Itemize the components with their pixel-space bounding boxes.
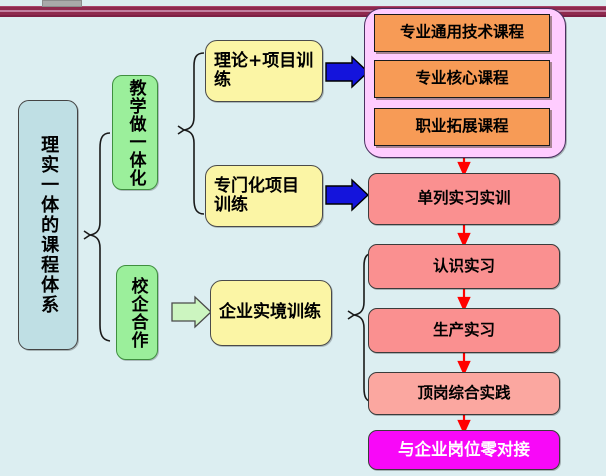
node-mode-specialized-project-training[interactable]: 专门化项目训练 bbox=[205, 165, 323, 227]
node-mode-enterprise-real-training-label: 企业实境训练 bbox=[219, 303, 323, 322]
node-approach-integrated-teaching-label: 教学做一体化 bbox=[125, 79, 144, 187]
node-course-career-expansion[interactable]: 职业拓展课程 bbox=[374, 108, 550, 146]
node-mode-theory-project-training-label: 理论+项目训练 bbox=[214, 52, 314, 90]
node-practice-standalone-internship-label: 单列实习实训 bbox=[417, 190, 510, 207]
node-practice-production-internship[interactable]: 生产实习 bbox=[368, 308, 560, 353]
node-practice-production-internship-label: 生产实习 bbox=[433, 322, 495, 339]
blue-arrow-to-standalone-practice bbox=[326, 180, 368, 210]
node-approach-integrated-teaching[interactable]: 教学做一体化 bbox=[112, 75, 158, 190]
node-outcome-zero-gap-with-enterprise-post[interactable]: 与企业岗位零对接 bbox=[368, 430, 560, 470]
diagram-canvas: 理实一体的课程体系 教学做一体化 校企合作 理论+项目训练 专门化项目训练 企业… bbox=[0, 0, 606, 476]
node-mode-specialized-project-training-label: 专门化项目训练 bbox=[214, 177, 314, 215]
node-root-label: 理实一体的课程体系 bbox=[38, 135, 58, 315]
top-tab-marker bbox=[42, 0, 82, 7]
node-practice-orientation-internship-label: 认识实习 bbox=[433, 258, 495, 275]
node-practice-orientation-internship[interactable]: 认识实习 bbox=[368, 244, 560, 289]
brace-root-to-approaches bbox=[84, 133, 110, 341]
node-course-career-expansion-label: 职业拓展课程 bbox=[415, 118, 508, 135]
node-root-curriculum-system[interactable]: 理实一体的课程体系 bbox=[18, 100, 78, 350]
green-arrow-to-enterprise-training bbox=[172, 297, 211, 327]
blue-arrow-to-courses bbox=[326, 57, 368, 87]
node-practice-on-the-job-comprehensive-label: 顶岗综合实践 bbox=[417, 385, 510, 402]
node-mode-enterprise-real-training[interactable]: 企业实境训练 bbox=[210, 280, 332, 346]
node-course-general-technical[interactable]: 专业通用技术课程 bbox=[374, 14, 550, 52]
node-practice-on-the-job-comprehensive[interactable]: 顶岗综合实践 bbox=[368, 372, 560, 415]
node-outcome-label: 与企业岗位零对接 bbox=[398, 441, 530, 459]
node-practice-standalone-internship[interactable]: 单列实习实训 bbox=[368, 173, 560, 225]
node-course-general-technical-label: 专业通用技术课程 bbox=[400, 24, 524, 41]
node-approach-school-enterprise-label: 校企合作 bbox=[127, 277, 146, 349]
brace-teaching-to-modes bbox=[178, 53, 204, 214]
node-course-professional-core-label: 专业核心课程 bbox=[415, 70, 508, 87]
node-approach-school-enterprise[interactable]: 校企合作 bbox=[116, 265, 158, 360]
node-mode-theory-project-training[interactable]: 理论+项目训练 bbox=[205, 40, 323, 102]
node-course-professional-core[interactable]: 专业核心课程 bbox=[374, 60, 550, 98]
